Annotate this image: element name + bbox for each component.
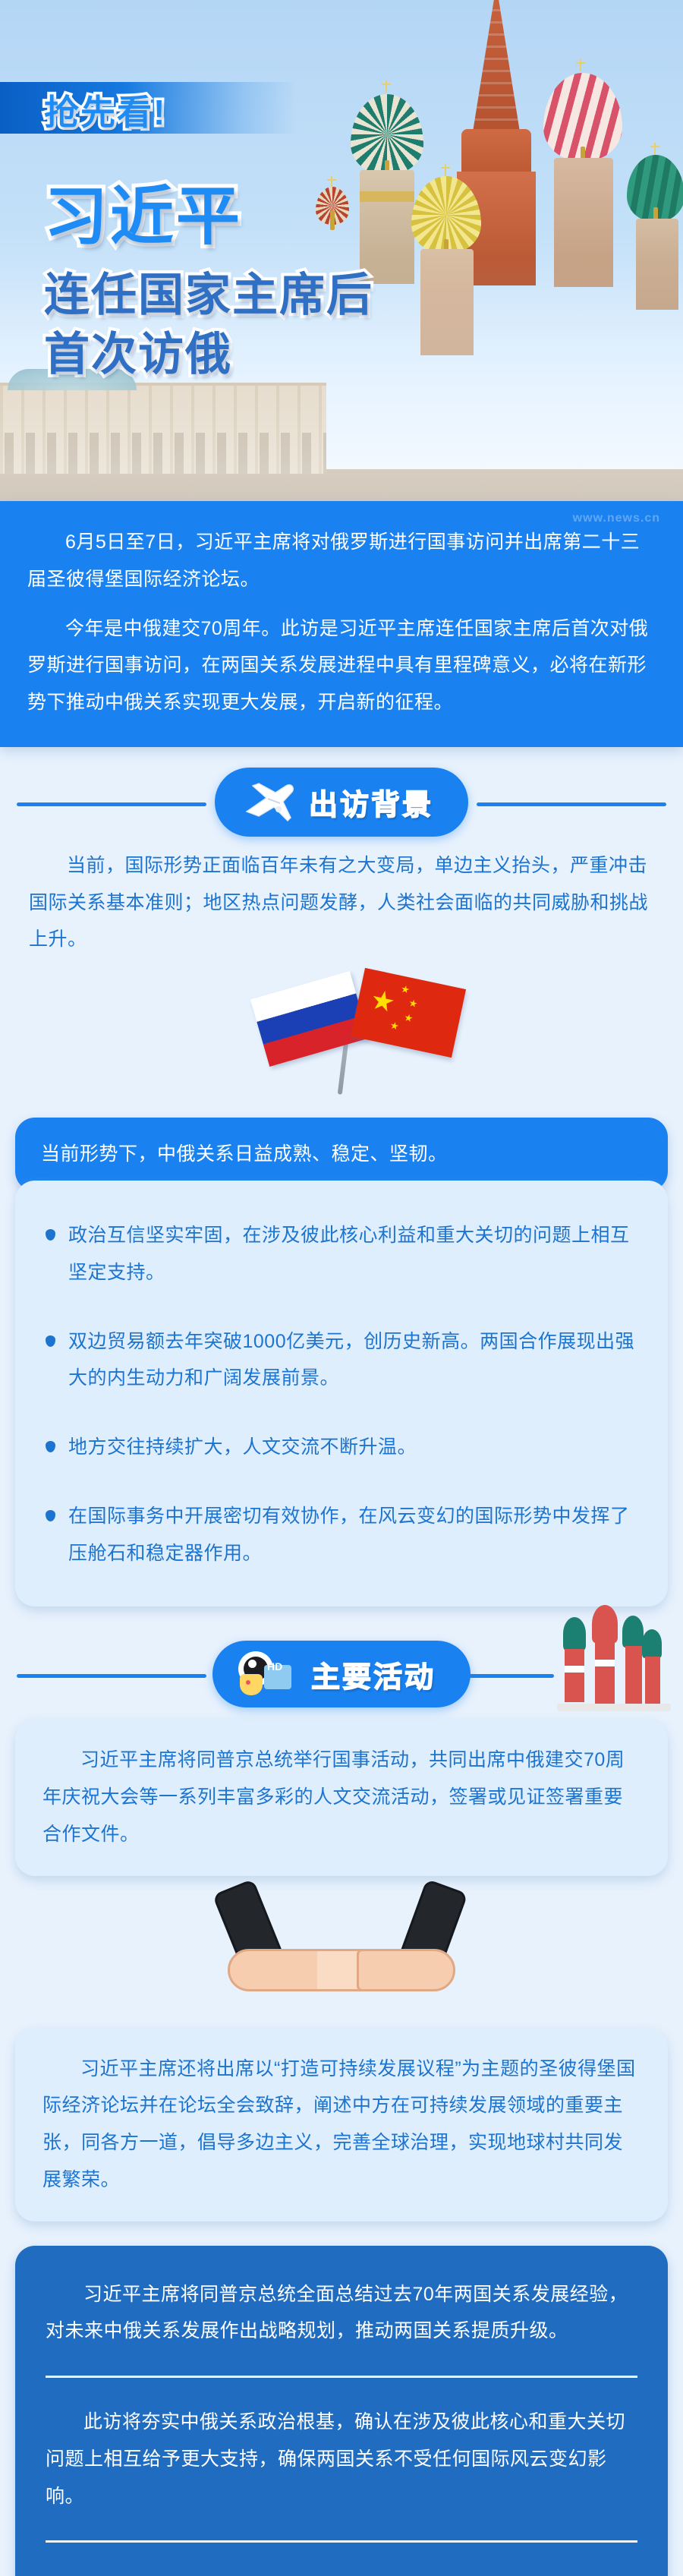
intro-paragraph-1: 6月5日至7日，习近平主席将对俄罗斯进行国事访问并出席第二十三届圣彼得堡国际经济… bbox=[27, 524, 656, 598]
background-paragraph: 当前，国际形势正面临百年未有之大变局，单边主义抬头，严重冲击国际关系基本准则；地… bbox=[15, 847, 668, 958]
list-item: 地方交往持续扩大，人文交流不断升温。 bbox=[42, 1429, 641, 1466]
section-header-background: 出访背景 bbox=[0, 758, 683, 847]
flags-illustration: ★ ★ ★ ★ ★ bbox=[0, 958, 683, 1118]
hero-banner: 抢先看! 习近平 连任国家主席后 首次访俄 bbox=[0, 0, 683, 501]
background-paragraph-wrap: 当前，国际形势正面临百年未有之大变局，单边主义抬头，严重冲击国际关系基本准则；地… bbox=[0, 847, 683, 958]
handshake-illustration bbox=[0, 1876, 683, 2028]
bullet-text: 地方交往持续扩大，人文交流不断升温。 bbox=[68, 1436, 417, 1458]
list-item: 政治互信坚实牢固，在涉及彼此核心利益和重大关切的问题上相互坚定支持。 bbox=[42, 1217, 641, 1291]
list-item: 双边贸易额去年突破1000亿美元，创历史新高。两国合作展现出强大的内生动力和广阔… bbox=[42, 1323, 641, 1398]
bullet-text: 政治互信坚实牢固，在涉及彼此核心利益和重大关切的问题上相互坚定支持。 bbox=[68, 1225, 630, 1283]
bullet-text: 双边贸易额去年突破1000亿美元，创历史新高。两国合作展现出强大的内生动力和广阔… bbox=[68, 1331, 634, 1389]
activities-card1-wrap: 习近平主席将同普京总统举行国事活动，共同出席中俄建交70周年庆祝大会等一系列丰富… bbox=[0, 1719, 683, 1875]
outlook-wrap: 习近平主席将同普京总统全面总结过去70年两国关系发展经验，对未来中俄关系发展作出… bbox=[0, 2246, 683, 2576]
hand-right bbox=[357, 1949, 455, 1991]
activities-card-2: 习近平主席还将出席以“打造可持续发展议程”为主题的圣彼得堡国际经济论坛并在论坛全… bbox=[15, 2028, 668, 2221]
bullet-text: 在国际事务中开展密切有效协作，在风云变幻的国际形势中发挥了压舱石和稳定器作用。 bbox=[68, 1506, 630, 1564]
section-header-activities: HD 主要活动 bbox=[0, 1629, 683, 1719]
outlook-paragraph-3: 为双方各领域务实合作开启新前景，把两国高水平的政治关系优势转化为更多实实在在的成… bbox=[46, 2568, 637, 2576]
list-item: 在国际事务中开展密切有效协作，在风云变幻的国际形势中发挥了压舱石和稳定器作用。 bbox=[42, 1498, 641, 1572]
page-subtitle-line2: 首次访俄 bbox=[44, 317, 232, 383]
section-title-background: 出访背景 bbox=[309, 781, 433, 823]
outlook-paragraph-2: 此访将夯实中俄关系政治根基，确认在涉及彼此核心和重大关切问题上相互给予更大支持，… bbox=[46, 2404, 637, 2515]
airplane-icon bbox=[241, 778, 297, 826]
intro-band: www.news.cn 6月5日至7日，习近平主席将对俄罗斯进行国事访问并出席第… bbox=[0, 501, 683, 747]
infographic-poster: 抢先看! 习近平 连任国家主席后 首次访俄 www.news.cn 6月5日至7… bbox=[0, 0, 683, 2576]
bullets-list: 政治互信坚实牢固，在涉及彼此核心利益和重大关切的问题上相互坚定支持。 双边贸易额… bbox=[42, 1217, 641, 1572]
activities-card-2-text: 习近平主席还将出席以“打造可持续发展议程”为主题的圣彼得堡国际经济论坛并在论坛全… bbox=[42, 2051, 641, 2199]
intro-paragraph-2: 今年是中俄建交70周年。此访是习近平主席连任国家主席后首次对俄罗斯进行国事访问，… bbox=[27, 610, 656, 721]
bullets-wrap: 政治互信坚实牢固，在涉及彼此核心利益和重大关切的问题上相互坚定支持。 双边贸易额… bbox=[0, 1181, 683, 1606]
hand-left bbox=[228, 1949, 326, 1991]
outlook-divider-1 bbox=[46, 2376, 637, 2378]
activities-card2-wrap: 习近平主席还将出席以“打造可持续发展议程”为主题的圣彼得堡国际经济论坛并在论坛全… bbox=[0, 2028, 683, 2221]
section-pill-activities: HD 主要活动 bbox=[212, 1641, 471, 1707]
outlook-divider-2 bbox=[46, 2540, 637, 2543]
page-title: 习近平 bbox=[44, 166, 242, 257]
relations-highlight-text: 当前形势下，中俄关系日益成熟、稳定、坚韧。 bbox=[41, 1137, 642, 1171]
bullets-card: 政治互信坚实牢固，在涉及彼此核心利益和重大关切的问题上相互坚定支持。 双边贸易额… bbox=[15, 1181, 668, 1606]
preview-badge: 抢先看! bbox=[44, 85, 166, 135]
mini-cathedral-icon bbox=[557, 1610, 671, 1716]
camera-hd-badge: HD bbox=[267, 1660, 282, 1673]
camera-icon: HD bbox=[238, 1651, 299, 1697]
section-title-activities: 主要活动 bbox=[311, 1654, 436, 1695]
russia-flag-icon bbox=[250, 971, 369, 1067]
outlook-card: 习近平主席将同普京总统全面总结过去70年两国关系发展经验，对未来中俄关系发展作出… bbox=[15, 2246, 668, 2576]
activities-card-1: 习近平主席将同普京总统举行国事活动，共同出席中俄建交70周年庆祝大会等一系列丰富… bbox=[15, 1719, 668, 1875]
section-pill-background: 出访背景 bbox=[215, 768, 468, 837]
outlook-paragraph-1: 习近平主席将同普京总统全面总结过去70年两国关系发展经验，对未来中俄关系发展作出… bbox=[46, 2276, 637, 2351]
activities-card-1-text: 习近平主席将同普京总统举行国事活动，共同出席中俄建交70周年庆祝大会等一系列丰富… bbox=[42, 1742, 641, 1852]
page-subtitle-line1: 连任国家主席后 bbox=[44, 258, 373, 324]
china-flag-icon: ★ ★ ★ ★ ★ bbox=[351, 968, 466, 1058]
